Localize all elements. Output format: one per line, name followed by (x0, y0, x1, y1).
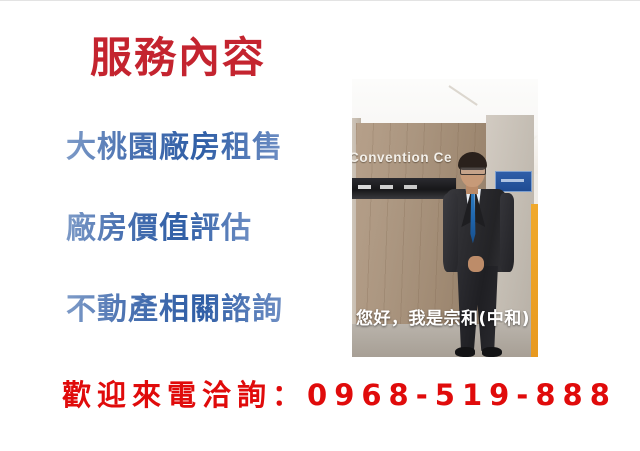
person-left-arm (443, 193, 458, 272)
slide-canvas: 服務內容 大桃園廠房租售 廠房價值評估 不動產相關諮詢 歡迎來電洽詢：0968-… (0, 0, 640, 451)
service-item-1: 大桃園廠房租售 (66, 131, 283, 164)
contact-line: 歡迎來電洽詢：0968-519-888 (62, 372, 617, 414)
person-right-shoe (482, 347, 503, 357)
glasses-icon (460, 167, 486, 174)
contact-phone-number: 0968-519-888 (307, 378, 617, 412)
person-left-shoe (455, 347, 476, 357)
contact-prefix: 歡迎來電洽詢： (62, 378, 307, 412)
portrait-photo: Convention Ce 您好，我是宗和(中和) (352, 79, 538, 357)
service-item-3: 不動產相關諮詢 (66, 293, 283, 326)
service-item-2: 廠房價值評估 (66, 212, 252, 245)
person-hands (468, 256, 483, 272)
page-title: 服務內容 (90, 35, 266, 81)
person-right-arm (500, 193, 515, 272)
photo-caption: 您好，我是宗和(中和) (356, 304, 530, 329)
photo-orange-strip (531, 204, 538, 357)
